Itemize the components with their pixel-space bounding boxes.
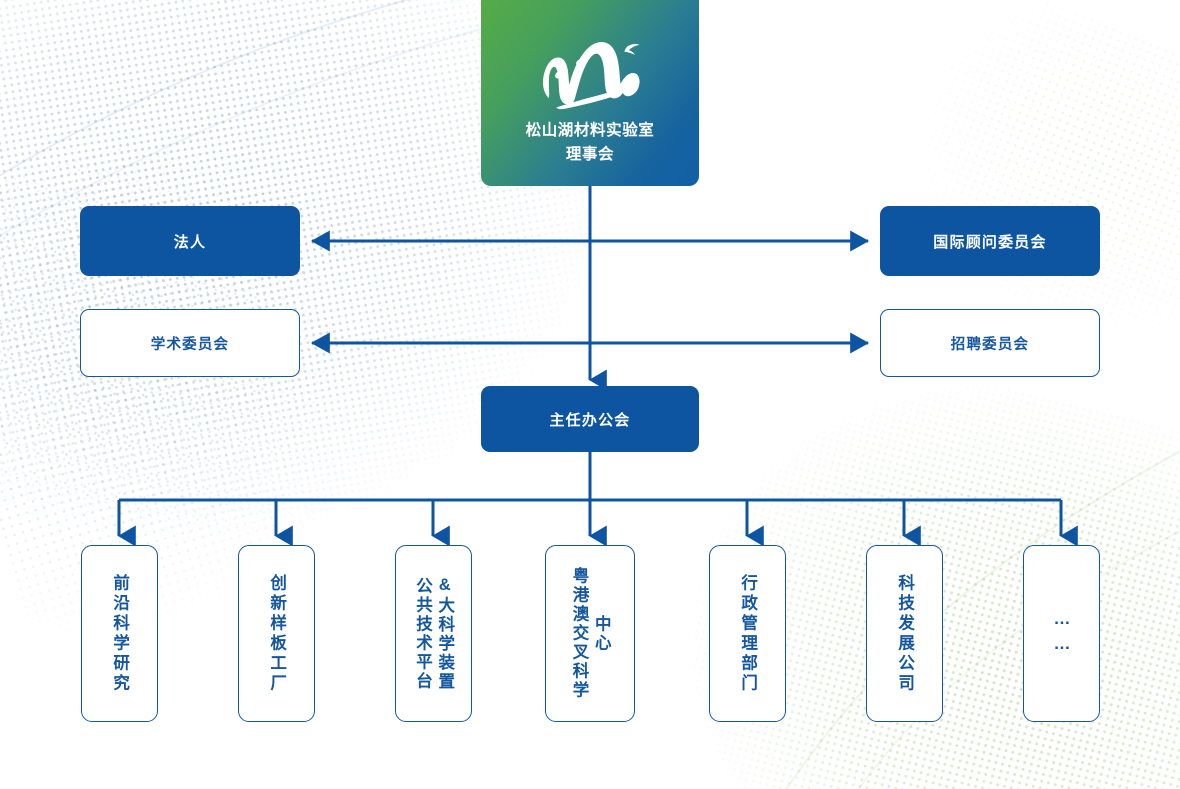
node-cross-science-center[interactable]: 粤港澳交叉科学 中心	[545, 545, 635, 722]
node-recruitment-committee[interactable]: 招聘委员会	[880, 309, 1100, 377]
node-big-science-platform-column-2: 公共技术平台	[411, 577, 433, 691]
node-tech-development-company-label: 科技发展公司	[893, 574, 915, 694]
node-academic-committee[interactable]: 学术委员会	[80, 309, 300, 377]
node-academic-committee-label: 学术委员会	[151, 333, 230, 354]
node-administration-department-label: 行政管理部门	[736, 574, 758, 694]
node-legal-person-label: 法人	[174, 231, 206, 252]
node-recruitment-committee-label: 招聘委员会	[951, 333, 1030, 354]
node-board-of-directors[interactable]: 松山湖材料实验室 理事会	[481, 0, 699, 186]
node-international-advisory-committee[interactable]: 国际顾问委员会	[880, 206, 1100, 276]
vertical-ellipsis-icon: ……	[1052, 609, 1072, 659]
node-administration-department[interactable]: 行政管理部门	[709, 545, 786, 722]
node-cross-science-center-column-2: 粤港澳交叉科学	[568, 567, 590, 700]
node-innovation-factory[interactable]: 创新样板工厂	[238, 545, 315, 722]
node-big-science-platform-column-1: &大科学装置	[434, 576, 456, 692]
root-node-label: 松山湖材料实验室 理事会	[526, 119, 655, 167]
node-tech-development-company[interactable]: 科技发展公司	[866, 545, 943, 722]
node-director-office[interactable]: 主任办公会	[481, 386, 699, 452]
songshan-lake-brushstroke-logo	[529, 27, 651, 113]
node-frontier-science[interactable]: 前沿科学研究	[81, 545, 158, 722]
node-big-science-platform[interactable]: 公共技术平台 &大科学装置	[395, 545, 472, 722]
node-director-office-label: 主任办公会	[549, 409, 630, 430]
node-international-advisory-committee-label: 国际顾问委员会	[933, 231, 1046, 252]
node-cross-science-center-column-1: 中心	[590, 615, 612, 653]
org-chart-canvas: 松山湖材料实验室 理事会 法人 国际顾问委员会 学术委员会 招聘委员会 主任办公…	[0, 0, 1180, 789]
node-frontier-science-label: 前沿科学研究	[108, 574, 130, 694]
node-legal-person[interactable]: 法人	[80, 206, 300, 276]
node-innovation-factory-label: 创新样板工厂	[265, 574, 287, 694]
node-more-placeholder[interactable]: ……	[1023, 545, 1100, 722]
